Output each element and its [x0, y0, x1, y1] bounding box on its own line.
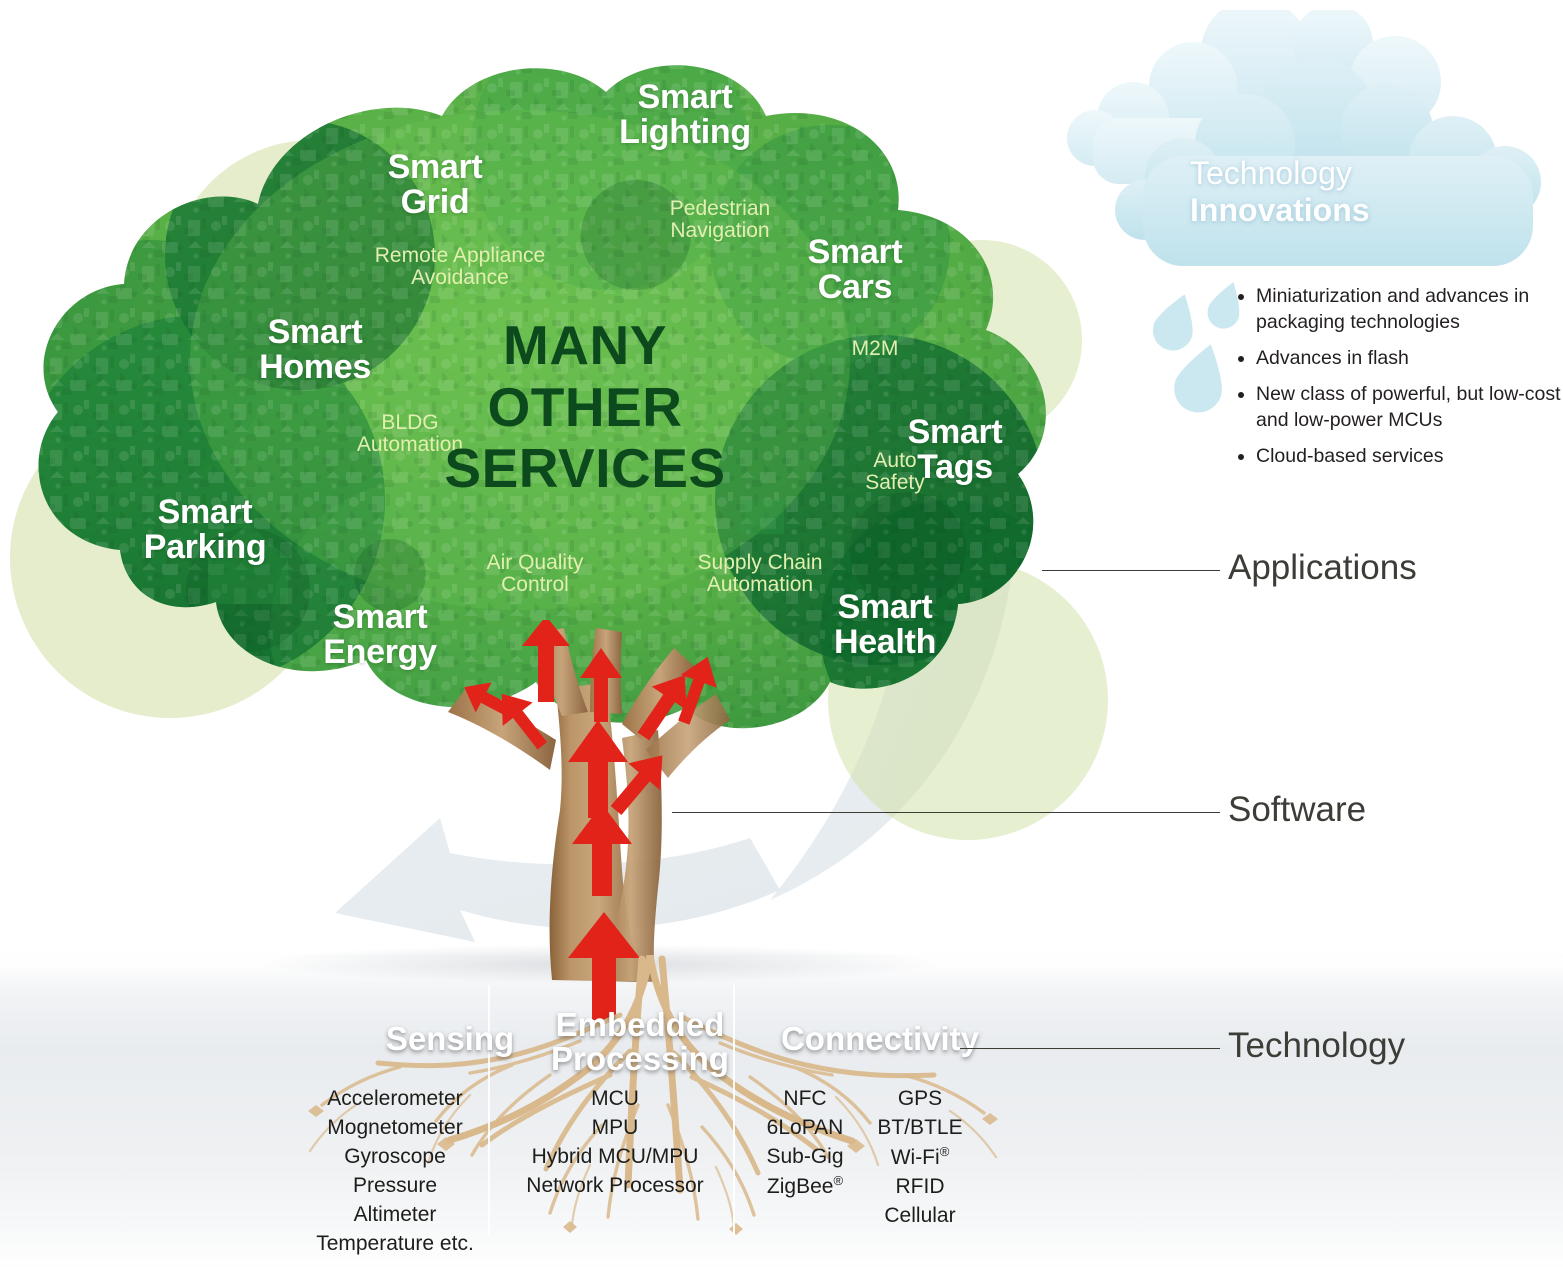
cloud-bullet-list: Miniaturization and advances in packagin… [1238, 284, 1563, 480]
root-list-item: MPU [505, 1114, 725, 1143]
layer-leader-line [1042, 570, 1220, 571]
layer-callout-label: Applications [1228, 548, 1417, 588]
root-list-item: ZigBee® [750, 1172, 860, 1202]
canopy-label-major: Smart Health [800, 590, 970, 661]
canopy-label-minor: Auto Safety [790, 450, 1000, 494]
root-list-item: Temperature etc. [300, 1230, 490, 1259]
canopy-label-major: Smart Cars [770, 235, 940, 306]
cloud-title: Technology Innovations [1190, 155, 1520, 229]
layer-leader-line [672, 812, 1220, 813]
infographic-canvas: Smart LightingSmart GridSmart CarsSmart … [0, 0, 1563, 1270]
root-list-item: Wi-Fi® [860, 1143, 980, 1173]
canopy-label-minor: Pedestrian Navigation [615, 198, 825, 242]
root-list-item: Cellular [860, 1202, 980, 1231]
cloud-bullet-item: Advances in flash [1256, 346, 1563, 372]
cloud-title-line1: Technology [1190, 155, 1520, 192]
canopy-label-minor: Air Quality Control [430, 552, 640, 596]
cloud-bullet-item: Cloud-based services [1256, 444, 1563, 470]
canopy-label-minor: M2M [770, 338, 980, 360]
root-list-item: BT/BTLE [860, 1114, 980, 1143]
layer-callout-label: Technology [1228, 1026, 1405, 1066]
canopy-label-minor: Remote Appliance Avoidance [355, 245, 565, 289]
root-column-heading: Embedded Processing [520, 1008, 760, 1077]
root-list-item: NFC [750, 1085, 860, 1114]
technology-cloud [1065, 10, 1563, 280]
canopy-label-major: Smart Grid [350, 150, 520, 221]
root-column-heading: Connectivity [760, 1022, 1000, 1056]
canopy-label-major: Smart Parking [120, 495, 290, 566]
root-list-item: Gyroscope [300, 1143, 490, 1172]
canopy-label-major: Smart Homes [230, 315, 400, 386]
cloud-bullet-item: Miniaturization and advances in packagin… [1256, 284, 1563, 336]
root-column-list: MCUMPUHybrid MCU/MPUNetwork Processor [505, 1085, 725, 1201]
root-list-item: GPS [860, 1085, 980, 1114]
center-text: MANY OTHER SERVICES [440, 315, 730, 500]
root-column-list: GPSBT/BTLEWi-Fi®RFIDCellular [860, 1085, 980, 1231]
root-column-list: AccelerometerMognetometerGyroscopePressu… [300, 1085, 490, 1259]
root-list-item: Sub-Gig [750, 1143, 860, 1172]
canopy-label-minor: Supply Chain Automation [655, 552, 865, 596]
root-list-item: RFID [860, 1173, 980, 1202]
root-list-item: Altimeter [300, 1201, 490, 1230]
root-list-item: Network Processor [505, 1172, 725, 1201]
cloud-bullet-item: New class of powerful, but low-cost and … [1256, 382, 1563, 434]
layer-callout-label: Software [1228, 790, 1366, 830]
root-column-list: NFC6LoPANSub-GigZigBee® [750, 1085, 860, 1202]
root-list-item: Mognetometer [300, 1114, 490, 1143]
root-list-item: MCU [505, 1085, 725, 1114]
canopy-label-major: Smart Lighting [600, 80, 770, 151]
layer-leader-line [960, 1048, 1220, 1049]
root-list-item: Accelerometer [300, 1085, 490, 1114]
root-list-item: 6LoPAN [750, 1114, 860, 1143]
cloud-title-line2: Innovations [1190, 192, 1520, 229]
root-list-item: Pressure [300, 1172, 490, 1201]
root-list-item: Hybrid MCU/MPU [505, 1143, 725, 1172]
